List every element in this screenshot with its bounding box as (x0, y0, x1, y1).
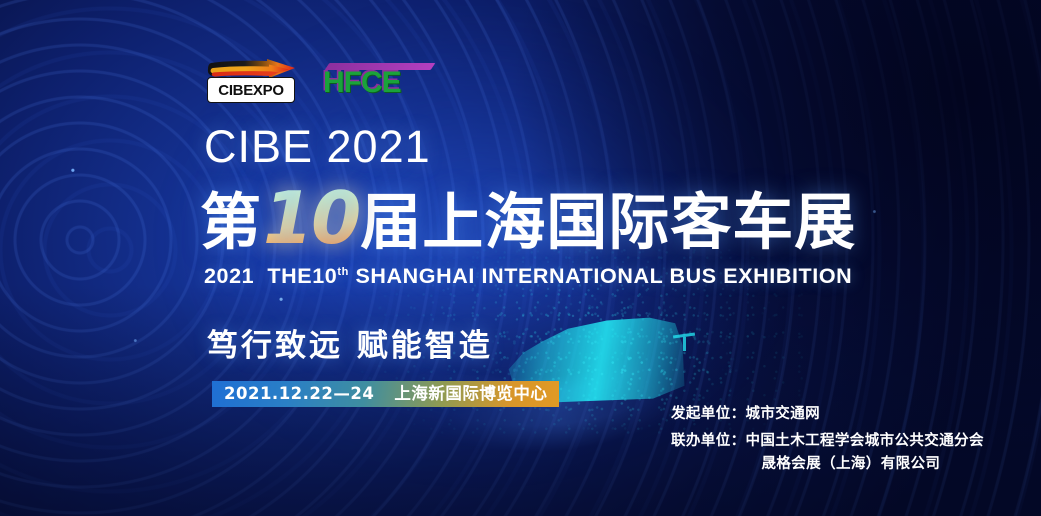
organizer-label: 发起单位： (671, 407, 746, 422)
organizer-label: 联办单位： (671, 434, 746, 472)
title-edition-number: 10 (263, 178, 359, 259)
title-suffix: 届上海国际客车展 (360, 189, 856, 257)
bus-mirror-glass-icon (683, 337, 686, 351)
organizer-values: 城市交通网 (746, 407, 821, 422)
event-venue: 上海新国际博览中心 (394, 386, 547, 403)
title-en-the: THE10 (267, 264, 337, 288)
organizer-value: 中国土木工程学会城市公共交通分会 (746, 434, 984, 449)
organizer-row: 发起单位： 城市交通网 (671, 407, 984, 422)
organizer-values: 中国土木工程学会城市公共交通分会 晟格会展（上海）有限公司 (746, 434, 984, 472)
title-prefix: 第 (200, 189, 262, 257)
hfce-logo: HFCE (323, 64, 401, 98)
organizer-value: 城市交通网 (746, 407, 821, 422)
hfce-wordmark: HFCE (323, 68, 401, 98)
title-en-ordinal: th (337, 266, 349, 278)
cibexpo-logo: CIBEXPO (203, 58, 297, 104)
organizer-row: 联办单位： 中国土木工程学会城市公共交通分会 晟格会展（上海）有限公司 (671, 434, 984, 472)
organizer-block: 发起单位： 城市交通网 联办单位： 中国土木工程学会城市公共交通分会 晟格会展（… (671, 407, 984, 472)
title-en-rest: SHANGHAI INTERNATIONAL BUS EXHIBITION (355, 264, 852, 288)
title-en-year: 2021 (204, 264, 254, 288)
date-venue-bar: 2021.12.22—24 上海新国际博览中心 (212, 381, 559, 407)
cibexpo-wordmark-plate: CIBEXPO (207, 77, 295, 103)
cibexpo-wordmark: CIBEXPO (218, 83, 283, 98)
title-english: 2021 THE10th SHANGHAI INTERNATIONAL BUS … (204, 266, 852, 288)
event-date: 2021.12.22—24 (224, 386, 374, 403)
event-banner: CIBEXPO HFCE CIBE 2021 第 10 届上海国际客车展 202… (0, 0, 1041, 516)
organizer-value: 晟格会展（上海）有限公司 (746, 457, 984, 472)
title-chinese: 第 10 届上海国际客车展 (200, 178, 856, 259)
logo-row: CIBEXPO HFCE (203, 58, 401, 104)
event-code: CIBE 2021 (204, 124, 431, 169)
slogan: 笃行致远 赋能智造 (207, 331, 493, 362)
